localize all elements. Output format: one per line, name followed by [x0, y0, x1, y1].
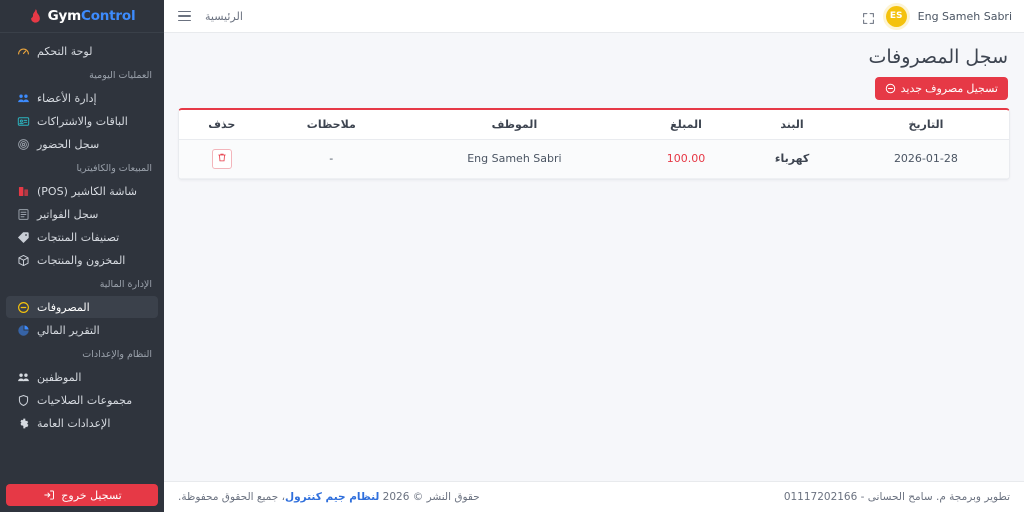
staff-icon [16, 370, 30, 384]
sidebar-item-label-members: إدارة الأعضاء [37, 92, 97, 105]
table-head: التاريخ البند المبلغ الموظف ملاحظات حذف [179, 110, 1009, 140]
sidebar-item-label-product-categories: تصنيفات المنتجات [37, 231, 119, 244]
sidebar-item-inventory[interactable]: المخزون والمنتجات [6, 249, 158, 271]
logout-icon [42, 489, 55, 502]
fingerprint-icon [16, 137, 30, 151]
sidebar-item-label-staff: الموظفين [37, 371, 81, 384]
sidebar: GymControl لوحة التحكم العمليات اليومية [0, 0, 164, 512]
footer: تطوير وبرمجة م. سامح الحسانى - 011172021… [164, 481, 1024, 512]
hamburger-icon[interactable] [178, 11, 191, 22]
column-header-date: التاريخ [843, 110, 1009, 140]
dashboard-icon [16, 44, 30, 58]
column-header-delete: حذف [179, 110, 265, 140]
sidebar-item-expenses[interactable]: المصروفات [6, 296, 158, 318]
sidebar-item-label-inventory: المخزون والمنتجات [37, 254, 125, 267]
expenses-table: التاريخ البند المبلغ الموظف ملاحظات حذف … [179, 110, 1009, 179]
add-expense-label: تسجيل مصروف جديد [901, 82, 998, 95]
expenses-table-card: التاريخ البند المبلغ الموظف ملاحظات حذف … [178, 108, 1010, 180]
sidebar-item-label-permission-groups: مجموعات الصلاحيات [37, 394, 132, 407]
sidebar-item-general-settings[interactable]: الإعدادات العامة [6, 412, 158, 434]
sidebar-item-attendance[interactable]: سجل الحضور [6, 133, 158, 155]
page-content: سجل المصروفات تسجيل مصروف جديد التاريخ [164, 33, 1024, 481]
sidebar-item-pos[interactable]: شاشة الكاشير (POS) [6, 180, 158, 202]
add-expense-button[interactable]: تسجيل مصروف جديد [875, 77, 1008, 100]
pie-chart-icon [16, 323, 30, 337]
sidebar-nav: لوحة التحكم العمليات اليومية إدارة الأعض… [0, 33, 164, 478]
sidebar-item-label-pos: شاشة الكاشير (POS) [37, 185, 137, 198]
sidebar-item-dashboard[interactable]: لوحة التحكم [6, 40, 158, 62]
expenses-coin-icon [16, 300, 30, 314]
table-header-row: التاريخ البند المبلغ الموظف ملاحظات حذف [179, 110, 1009, 140]
sidebar-item-invoices[interactable]: سجل الفواتير [6, 203, 158, 225]
footer-copyright: حقوق النشر © 2026 لنظام جيم كنترول، جميع… [178, 491, 480, 503]
card-id-icon [16, 114, 30, 128]
users-icon [16, 91, 30, 105]
page-header: سجل المصروفات تسجيل مصروف جديد [178, 43, 1010, 108]
footer-copyright-before: حقوق النشر © 2026 [383, 491, 480, 503]
sidebar-item-staff[interactable]: الموظفين [6, 366, 158, 388]
brand-text: GymControl [48, 8, 136, 24]
table-row: 2026-01-28 كهرباء 100.00 Eng Sameh Sabri… [179, 139, 1009, 178]
sidebar-item-members[interactable]: إدارة الأعضاء [6, 87, 158, 109]
current-user-name: Eng Sameh Sabri [918, 10, 1012, 23]
sidebar-item-permission-groups[interactable]: مجموعات الصلاحيات [6, 389, 158, 411]
topbar-user-area: Eng Sameh Sabri ES [862, 6, 1012, 27]
footer-developer: تطوير وبرمجة م. سامح الحسانى - 011172021… [784, 491, 1010, 503]
delete-row-button[interactable] [212, 149, 232, 169]
brand-name-part1: Gym [48, 8, 81, 24]
trash-icon [217, 151, 227, 166]
column-header-employee: الموظف [398, 110, 631, 140]
box-icon [16, 253, 30, 267]
cell-notes: - [265, 139, 399, 178]
home-link[interactable]: الرئيسية [205, 10, 243, 23]
cell-delete [179, 139, 265, 178]
logout-container: تسجيل خروج [0, 478, 164, 512]
logout-label: تسجيل خروج [61, 489, 121, 502]
flame-icon [29, 9, 42, 23]
sidebar-section-financial: الإدارة المالية [0, 272, 164, 295]
gear-icon [16, 416, 30, 430]
sidebar-item-label-attendance: سجل الحضور [37, 138, 99, 151]
sidebar-item-label-packages: الباقات والاشتراكات [37, 115, 128, 128]
brand-name-part2: Control [81, 8, 135, 24]
invoice-icon [16, 207, 30, 221]
cell-item: كهرباء [741, 139, 843, 178]
app-root: Eng Sameh Sabri ES الرئيسية سجل المصروفا… [0, 0, 1024, 512]
sidebar-item-label-dashboard: لوحة التحكم [37, 45, 92, 58]
main-area: Eng Sameh Sabri ES الرئيسية سجل المصروفا… [164, 0, 1024, 512]
avatar[interactable]: ES [886, 6, 907, 27]
footer-brand-link[interactable]: لنظام جيم كنترول [285, 491, 379, 503]
top-bar: Eng Sameh Sabri ES الرئيسية [164, 0, 1024, 33]
sidebar-item-product-categories[interactable]: تصنيفات المنتجات [6, 226, 158, 248]
column-header-item: البند [741, 110, 843, 140]
topbar-nav-area: الرئيسية [178, 10, 243, 23]
sidebar-item-label-general-settings: الإعدادات العامة [37, 417, 110, 430]
sidebar-item-financial-report[interactable]: التقرير المالي [6, 319, 158, 341]
page-title: سجل المصروفات [180, 45, 1008, 70]
cell-amount: 100.00 [631, 139, 742, 178]
sidebar-section-sales-cafeteria: المبيعات والكافيتريا [0, 156, 164, 179]
cell-date: 2026-01-28 [843, 139, 1009, 178]
sidebar-item-packages[interactable]: الباقات والاشتراكات [6, 110, 158, 132]
column-header-amount: المبلغ [631, 110, 742, 140]
fullscreen-icon[interactable] [862, 10, 875, 23]
cell-employee: Eng Sameh Sabri [398, 139, 631, 178]
tag-icon [16, 230, 30, 244]
sidebar-section-daily-operations: العمليات اليومية [0, 63, 164, 86]
sidebar-item-label-invoices: سجل الفواتير [37, 208, 98, 221]
sidebar-section-system-settings: النظام والإعدادات [0, 342, 164, 365]
table-body: 2026-01-28 كهرباء 100.00 Eng Sameh Sabri… [179, 139, 1009, 178]
shield-icon [16, 393, 30, 407]
pos-register-icon [16, 184, 30, 198]
brand-logo[interactable]: GymControl [0, 0, 164, 33]
column-header-notes: ملاحظات [265, 110, 399, 140]
sidebar-item-label-financial-report: التقرير المالي [37, 324, 100, 337]
plus-circle-icon [885, 83, 896, 94]
footer-copyright-after: ، جميع الحقوق محفوظة. [178, 491, 285, 503]
sidebar-item-label-expenses: المصروفات [37, 301, 90, 314]
logout-button[interactable]: تسجيل خروج [6, 484, 158, 506]
